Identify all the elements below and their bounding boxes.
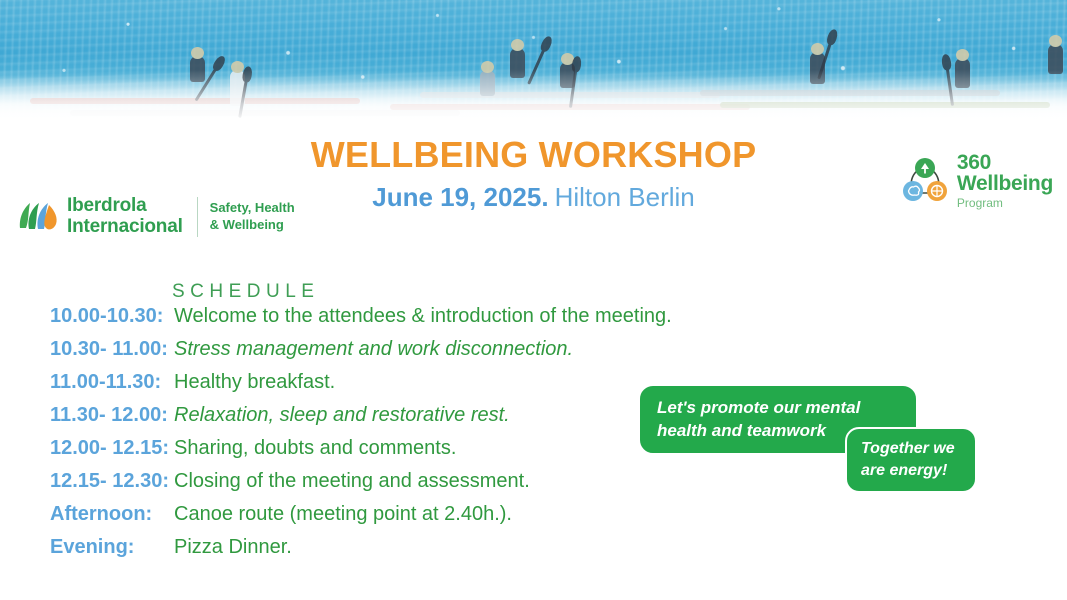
schedule-row: 10.00-10.30:Welcome to the attendees & i… (50, 305, 770, 338)
kayak-hull (700, 90, 1000, 96)
wellbeing-360-number: 360 (957, 152, 1053, 173)
wellbeing-360-logo: 360 Wellbeing Program (899, 152, 1053, 210)
schedule-row-description: Canoe route (meeting point at 2.40h.). (174, 503, 512, 526)
schedule-row-description: Pizza Dinner. (174, 536, 292, 559)
wellbeing-360-program-label: Program (957, 196, 1053, 210)
paddler-head (511, 39, 524, 51)
schedule-row: 12.15- 12.30:Closing of the meeting and … (50, 470, 770, 503)
schedule-row: 10.30- 11.00:Stress management and work … (50, 338, 770, 371)
shw-line1: Safety, Health (210, 200, 295, 216)
callout-primary-line1: Let's promote our mental (657, 397, 860, 420)
schedule-row-time: 11.30- 12.00: (50, 404, 172, 427)
schedule-row-time: 11.00-11.30: (50, 371, 172, 394)
schedule-row-description: Relaxation, sleep and restorative rest. (174, 404, 510, 427)
callout-together-energy: Together we are energy! (845, 427, 977, 493)
schedule-row-description: Welcome to the attendees & introduction … (174, 305, 672, 328)
event-venue: Hilton Berlin (555, 182, 695, 212)
paddler (190, 56, 205, 82)
paddler (480, 70, 495, 96)
schedule-row-description: Healthy breakfast. (174, 371, 335, 394)
iberdrola-name-line2: Internacional (67, 217, 183, 238)
logo-divider (197, 197, 198, 237)
wellbeing-360-wordmark: 360 Wellbeing Program (957, 152, 1053, 210)
paddler (955, 58, 970, 88)
callout-primary-line2: health and teamwork (657, 420, 860, 443)
wellbeing-360-word: Wellbeing (957, 173, 1053, 195)
blue-brain-circle (903, 181, 923, 201)
paddler-head (191, 47, 204, 59)
schedule-row: Evening:Pizza Dinner. (50, 536, 770, 569)
paddler-head (956, 49, 969, 61)
paddler-head (481, 61, 494, 73)
paddler-head (1049, 35, 1062, 47)
kayak-hull (70, 110, 460, 116)
event-date: June 19, 2025. (372, 182, 548, 212)
kayak-hull (720, 102, 1050, 108)
hero-banner-image (0, 0, 1067, 140)
paddler-head (811, 43, 824, 55)
wellbeing-360-triad-icon (899, 155, 951, 207)
shw-line2: & Wellbeing (210, 217, 295, 233)
schedule-heading: SCHEDULE (172, 281, 319, 303)
schedule-row-description: Closing of the meeting and assessment. (174, 470, 530, 493)
paddler (510, 48, 525, 78)
schedule-row-description: Sharing, doubts and comments. (174, 437, 456, 460)
schedule-row: Afternoon:Canoe route (meeting point at … (50, 503, 770, 536)
schedule-row-time: Evening: (50, 536, 172, 559)
iberdrola-name-line1: Iberdrola (67, 196, 183, 217)
schedule-row-time: 10.30- 11.00: (50, 338, 172, 361)
schedule-row-time: Afternoon: (50, 503, 172, 526)
iberdrola-logo: Iberdrola Internacional Safety, Health &… (16, 196, 295, 237)
schedule-row-time: 12.15- 12.30: (50, 470, 172, 493)
paddler (1048, 44, 1063, 74)
iberdrola-flame-leaf-icon (16, 198, 60, 236)
schedule-row-time: 10.00-10.30: (50, 305, 172, 328)
safety-health-wellbeing-label: Safety, Health & Wellbeing (210, 200, 295, 233)
wellbeing-workshop-poster: WELLBEING WORKSHOP June 19, 2025.Hilton … (0, 0, 1067, 600)
paddler-head (231, 61, 244, 73)
schedule-row-time: 12.00- 12.15: (50, 437, 172, 460)
iberdrola-wordmark: Iberdrola Internacional (67, 196, 183, 237)
callout-secondary-line1: Together we (861, 438, 955, 460)
schedule-row-description: Stress management and work disconnection… (174, 338, 573, 361)
callout-secondary-line2: are energy! (861, 460, 955, 482)
